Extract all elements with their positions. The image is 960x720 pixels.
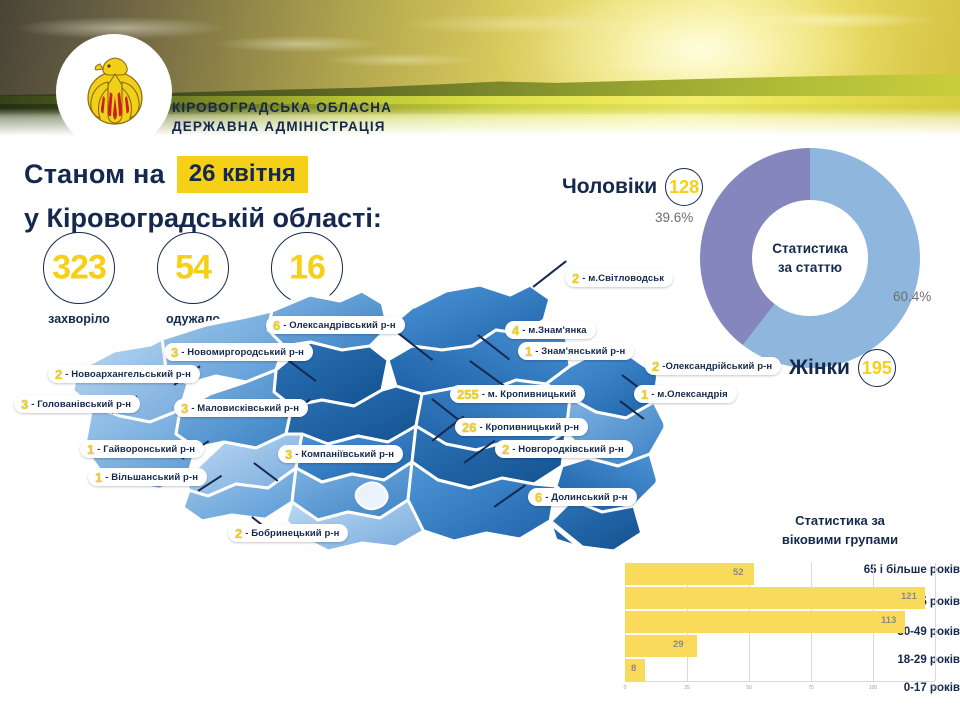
- map-label-count: 255: [457, 387, 479, 402]
- age-bar-row-18-29[interactable]: 29: [625, 635, 935, 657]
- map-label-count: 6: [535, 490, 542, 505]
- map-label-text: - Гайворонський р-н: [97, 444, 195, 455]
- map-label-count: 1: [525, 344, 532, 359]
- age-bar-value-18-29: 29: [673, 639, 684, 650]
- brand-line-1: КІРОВОГРАДСЬКА ОБЛАСНА: [172, 98, 392, 117]
- map-label-holovanivskyi[interactable]: 3 - Голованівський р-н: [14, 395, 140, 413]
- female-value-ring: 195: [858, 349, 896, 387]
- map-label-malovyskivskyi[interactable]: 3 - Маловисківський р-н: [174, 399, 308, 417]
- infographic-page: КІРОВОГРАДСЬКА ОБЛАСНА ДЕРЖАВНА АДМІНІСТ…: [0, 0, 960, 720]
- male-label: Чоловіки: [562, 175, 657, 199]
- age-tick-75: 75: [808, 685, 814, 691]
- map-label-count: 1: [95, 470, 102, 485]
- female-value: 195: [862, 358, 892, 379]
- kirovohrad-eagle-emblem-icon: [84, 52, 146, 126]
- map-label-count: 3: [21, 397, 28, 412]
- map-label-text: - Голованівський р-н: [31, 399, 131, 410]
- map-label-count: 2: [55, 367, 62, 382]
- female-percentage: 60.4%: [893, 289, 931, 304]
- age-title-line-1: Статистика за: [725, 511, 955, 530]
- age-chart-title: Статистика за віковими групами: [725, 511, 955, 549]
- map-label-count: 3: [171, 345, 178, 360]
- age-tick-25: 25: [684, 685, 690, 691]
- map-label-text: - Маловисківський р-н: [191, 403, 299, 414]
- age-bar-30-49[interactable]: [625, 611, 905, 633]
- map-label-text: - Бобринецький р-н: [245, 528, 339, 539]
- age-bar-row-30-49[interactable]: 113: [625, 611, 935, 633]
- map-label-count: 2: [502, 442, 509, 457]
- map-label-count: 2: [572, 271, 579, 286]
- headline-region: у Кіровоградській області:: [24, 203, 444, 234]
- map-label-vilshanskyi[interactable]: 1 - Вільшанський р-н: [88, 468, 207, 486]
- map-label-kropyvnytskyi-city[interactable]: 255 - м. Кропивницький: [450, 385, 585, 403]
- map-label-oleksandrivskyi[interactable]: 6 - Олександрівський р-н: [266, 316, 405, 334]
- donut-svg: [700, 148, 920, 368]
- female-label: Жінки: [789, 356, 850, 380]
- female-legend: Жінки 195: [789, 349, 896, 387]
- map-label-text: - Новоархангельський р-н: [65, 369, 191, 380]
- headline-block: Станом на 26 квітня у Кіровоградській об…: [24, 156, 444, 234]
- map-label-text: -Олександрійський р-н: [662, 361, 772, 372]
- map-label-oleksandriia[interactable]: 1 - м.Олександрія: [634, 385, 737, 403]
- headline-prefix: Станом на: [24, 159, 165, 190]
- map-label-text: - м.Олександрія: [651, 389, 728, 400]
- age-tick-125: 125: [931, 685, 939, 691]
- map-label-text: - Компаніївський р-н: [295, 449, 394, 460]
- map-label-text: - Знам'янський р-н: [535, 346, 625, 357]
- map-label-text: - Долинський р-н: [545, 492, 627, 503]
- map-label-kropyvnytskyi-raion[interactable]: 26 - Кропивницький р-н: [455, 418, 588, 436]
- age-bar-value-50-65: 121: [901, 591, 917, 602]
- male-value-ring: 128: [665, 168, 703, 206]
- map-label-svitlovodsk[interactable]: 2 - м.Світловодськ: [565, 269, 673, 287]
- map-label-kompaniivskyi[interactable]: 3 - Компаніївський р-н: [278, 445, 403, 463]
- map-label-count: 26: [462, 420, 476, 435]
- map-label-count: 4: [512, 323, 519, 338]
- map-label-znamianskyi[interactable]: 1 - Знам'янський р-н: [518, 342, 634, 360]
- map-label-dolynskyi[interactable]: 6 - Долинський р-н: [528, 488, 637, 506]
- age-bar-value-0-17: 8: [631, 663, 636, 674]
- male-legend: Чоловіки 128: [562, 168, 703, 206]
- age-bar-50-65[interactable]: [625, 587, 925, 609]
- map-label-novoarkhanhelskyi[interactable]: 2 - Новоархангельський р-н: [48, 365, 200, 383]
- male-value: 128: [669, 177, 699, 198]
- age-tick-0: 0: [624, 685, 627, 691]
- map-label-count: 1: [641, 387, 648, 402]
- brand-line-2: ДЕРЖАВНА АДМІНІСТРАЦІЯ: [172, 117, 392, 136]
- map-label-count: 6: [273, 318, 280, 333]
- male-percentage: 39.6%: [655, 210, 693, 225]
- age-bar-row-65plus[interactable]: 52: [625, 563, 935, 585]
- age-axis-line: [625, 681, 935, 682]
- age-tick-50: 50: [746, 685, 752, 691]
- map-label-novomyrhorodskyi[interactable]: 3 - Новомиргородський р-н: [164, 343, 313, 361]
- map-label-haivoronskyi[interactable]: 1 - Гайворонський р-н: [80, 440, 204, 458]
- map-label-count: 3: [285, 447, 292, 462]
- age-bar-row-50-65[interactable]: 121: [625, 587, 935, 609]
- brand-title: КІРОВОГРАДСЬКА ОБЛАСНА ДЕРЖАВНА АДМІНІСТ…: [172, 98, 392, 136]
- age-bar-row-0-17[interactable]: 8: [625, 659, 935, 681]
- map-label-text: - Кропивницький р-н: [479, 422, 579, 433]
- age-title-line-2: віковими групами: [725, 530, 955, 549]
- map-label-count: 2: [235, 526, 242, 541]
- map-label-text: - Новгородківський р-н: [512, 444, 624, 455]
- age-bar-18-29[interactable]: [625, 635, 697, 657]
- gridline-125: [935, 563, 936, 681]
- map-label-text: - м.Знам'янка: [522, 325, 586, 336]
- map-label-count: 3: [181, 401, 188, 416]
- map-label-count: 2: [652, 359, 659, 374]
- map-label-znamianka[interactable]: 4 - м.Знам'янка: [505, 321, 596, 339]
- age-bar-value-30-49: 113: [881, 615, 896, 626]
- age-tick-100: 100: [869, 685, 877, 691]
- map-label-text: - Олександрівський р-н: [283, 320, 396, 331]
- map-label-novhorodkivskyi[interactable]: 2 - Новгородківський р-н: [495, 440, 633, 458]
- map-label-text: - м.Світловодськ: [582, 273, 664, 284]
- map-label-count: 1: [87, 442, 94, 457]
- report-date-chip: 26 квітня: [177, 156, 308, 193]
- map-label-bobrynetskyi[interactable]: 2 - Бобринецький р-н: [228, 524, 348, 542]
- age-group-bar-chart: Статистика за віковими групами 65 і біль…: [520, 505, 960, 715]
- map-label-text: - Вільшанський р-н: [105, 472, 198, 483]
- gender-donut-chart: Статистика за статтю: [700, 148, 920, 368]
- age-bar-value-65plus: 52: [733, 567, 744, 578]
- map-label-text: - Новомиргородський р-н: [181, 347, 304, 358]
- map-label-text: - м. Кропивницький: [482, 389, 576, 400]
- age-plot-area: 52 121 113 29 8 0 25 50 75 100 1: [625, 563, 935, 681]
- map-label-oleksandriiskyi[interactable]: 2 -Олександрійський р-н: [645, 357, 781, 375]
- headline-row-1: Станом на 26 квітня: [24, 156, 444, 193]
